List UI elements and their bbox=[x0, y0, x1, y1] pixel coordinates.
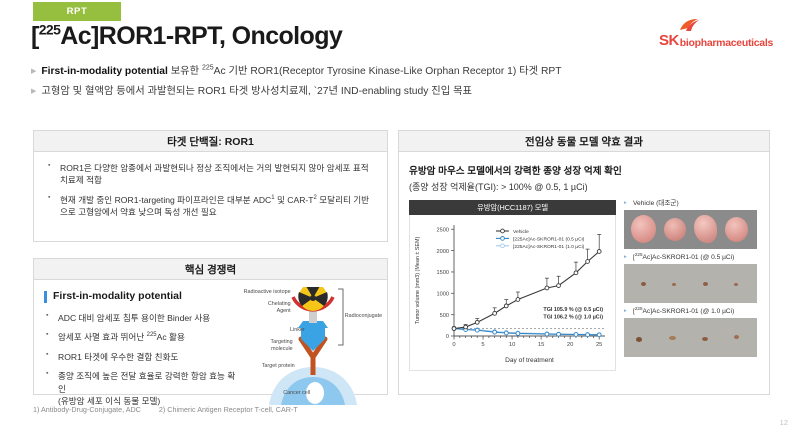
svg-text:15: 15 bbox=[538, 342, 544, 348]
header-bullet-1-bold: First-in-modality potential bbox=[41, 66, 167, 77]
label-radioconjugate: Radioconjugate bbox=[345, 313, 385, 320]
label-agent: Agent bbox=[277, 308, 291, 314]
core-bullet-1-text: ADC 대비 암세포 침투 용이한 Binder 사용 bbox=[58, 313, 210, 323]
list-item: 현재 개발 중인 ROR1-targeting 파이프라인은 대부분 ADC1 … bbox=[46, 194, 375, 219]
logo-name-text: biopharmaceuticals bbox=[680, 38, 773, 49]
svg-text:2000: 2000 bbox=[437, 249, 449, 255]
label-linker: Linker bbox=[261, 327, 305, 334]
svg-text:10: 10 bbox=[509, 342, 515, 348]
footnotes: 1) Antibody-Drug-Conjugate, ADC2) Chimer… bbox=[33, 405, 316, 414]
tumor-photo-vehicle bbox=[624, 210, 757, 249]
core-bullet-2-a: 암세포 사멸 효과 뛰어난 bbox=[58, 332, 147, 342]
core-competency-card: 핵심 경쟁력 First-in-modality potential ADC 대… bbox=[33, 258, 388, 395]
sk-biopharmaceuticals-logo: SK biopharmaceuticals bbox=[659, 26, 773, 48]
photo-label-dose-10: [225Ac]Ac-SKROR1-01 (@ 1.0 µCi) bbox=[624, 308, 759, 316]
svg-text:[225Ac]Ac-SKROR1-01 (0.5 µCi): [225Ac]Ac-SKROR1-01 (0.5 µCi) bbox=[513, 236, 585, 242]
target-protein-bullet-list: ROR1은 다양한 암종에서 과발현되나 정상 조직에서는 거의 발현되지 않아… bbox=[46, 162, 375, 219]
header-bullet-1-mid: 보유한 bbox=[168, 66, 202, 77]
photo-label-vehicle: Vehicle (대조군) bbox=[624, 200, 759, 208]
tumor-photo-column: Vehicle (대조군) [225Ac]Ac-SKROR1-01 (@ 0.5… bbox=[624, 200, 759, 371]
core-bullet-4-a: 종양 조직에 높은 전달 효율로 강력한 항암 효능 확인 bbox=[58, 371, 235, 393]
chart-plot-area: 050010001500200025000510152025Day of tre… bbox=[409, 215, 616, 371]
list-item: 암세포 사멸 효과 뛰어난 225Ac 활용 bbox=[44, 331, 241, 343]
svg-text:Day of treatment: Day of treatment bbox=[505, 357, 554, 364]
photo-label-vehicle-text: Vehicle (대조군) bbox=[633, 200, 679, 207]
target-protein-card-body: ROR1은 다양한 암종에서 과발현되나 정상 조직에서는 거의 발현되지 않아… bbox=[34, 152, 387, 236]
first-in-modality-heading: First-in-modality potential bbox=[44, 290, 241, 302]
target-protein-card: 타겟 단백질: ROR1 ROR1은 다양한 암종에서 과발현되나 정상 조직에… bbox=[33, 130, 388, 242]
isotope-superscript: 225 bbox=[147, 333, 157, 339]
photo-label-05-superscript: 225 bbox=[635, 252, 643, 257]
svg-text:20: 20 bbox=[567, 342, 573, 348]
svg-text:Tumor volume (mm3) (Mean ± SEM: Tumor volume (mm3) (Mean ± SEM) bbox=[415, 237, 421, 325]
slide: RPT [225Ac]ROR1-RPT, Oncology ▶First-in-… bbox=[0, 0, 800, 445]
label-cancer-cell: Cancer cell bbox=[279, 390, 315, 397]
label-targeting: Targeting bbox=[271, 339, 293, 345]
page-number: 12 bbox=[780, 418, 788, 427]
core-bullet-3-text: ROR1 타겟에 우수한 결합 친화도 bbox=[58, 352, 178, 362]
photo-label-dose-05: [225Ac]Ac-SKROR1-01 (@ 0.5 µCi) bbox=[624, 254, 759, 262]
core-competency-layout: First-in-modality potential ADC 대비 암세포 침… bbox=[44, 287, 377, 415]
list-item: ADC 대비 암세포 침투 용이한 Binder 사용 bbox=[44, 312, 241, 324]
header-bullet-1-superscript: 225 bbox=[202, 65, 214, 72]
svg-text:1000: 1000 bbox=[437, 292, 449, 298]
target-bullet-2-b: 및 CAR-T bbox=[275, 195, 314, 205]
efficacy-subheading: (종양 성장 억제율(TGI): > 100% @ 0.5, 1 µCi) bbox=[409, 180, 759, 193]
core-competency-text-column: First-in-modality potential ADC 대비 암세포 침… bbox=[44, 287, 241, 415]
label-chelating: Chelating bbox=[268, 301, 291, 307]
svg-text:2500: 2500 bbox=[437, 227, 449, 233]
bullet-triangle-icon: ▶ bbox=[31, 88, 36, 95]
header-bullet-1-rest: Ac 기반 ROR1(Receptor Tyrosine Kinase-Like… bbox=[214, 66, 562, 77]
preclinical-efficacy-card-title: 전임상 동물 모델 약효 결과 bbox=[399, 131, 769, 152]
svg-text:25: 25 bbox=[596, 342, 602, 348]
tumor-growth-chart: 유방암(HCC1187) 모델 050010001500200025000510… bbox=[409, 200, 616, 371]
label-target-protein: Target protein bbox=[247, 363, 295, 370]
core-competency-card-title: 핵심 경쟁력 bbox=[34, 259, 387, 280]
label-molecule: molecule bbox=[271, 346, 293, 352]
title-suffix: Ac]ROR1-RPT, Oncology bbox=[60, 22, 342, 50]
target-protein-card-title: 타겟 단백질: ROR1 bbox=[34, 131, 387, 152]
svg-text:[225Ac]Ac-SKROR1-01 (1.0 µCi): [225Ac]Ac-SKROR1-01 (1.0 µCi) bbox=[513, 244, 585, 250]
svg-text:Vehicle: Vehicle bbox=[513, 229, 529, 235]
logo-sk-text: SK bbox=[659, 33, 679, 48]
svg-text:TGI 106.2 % (@ 1.0 µCi): TGI 106.2 % (@ 1.0 µCi) bbox=[543, 315, 603, 321]
header-bullet-2: ▶고형암 및 혈액암 등에서 과발현되는 ROR1 타겟 방사성치료제, `27… bbox=[31, 82, 472, 97]
target-bullet-2-a: 현재 개발 중인 ROR1-targeting 파이프라인은 대부분 ADC bbox=[60, 195, 271, 205]
svg-text:500: 500 bbox=[440, 313, 449, 319]
bullet-triangle-icon: ▶ bbox=[31, 68, 36, 75]
chart-title: 유방암(HCC1187) 모델 bbox=[409, 200, 616, 215]
footnote-2: 2) Chimeric Antigen Receptor T-cell, CAR… bbox=[159, 405, 298, 414]
tumor-photo-dose-05 bbox=[624, 264, 757, 303]
radioconjugate-diagram: Radioactive isotope ChelatingAgent Linke… bbox=[243, 287, 377, 405]
preclinical-efficacy-card: 전임상 동물 모델 약효 결과 유방암 마우스 모델에서의 강력한 종양 성장 … bbox=[398, 130, 770, 395]
label-radioactive-isotope: Radioactive isotope bbox=[229, 289, 291, 296]
photo-label-10-suffix: Ac]Ac-SKROR1-01 (@ 1.0 µCi) bbox=[643, 308, 735, 315]
core-bullet-2-b: Ac 활용 bbox=[157, 332, 185, 342]
svg-text:0: 0 bbox=[452, 342, 455, 348]
title-isotope-superscript: 225 bbox=[39, 22, 61, 38]
svg-text:TGI 105.9 % (@ 0.5 µCi): TGI 105.9 % (@ 0.5 µCi) bbox=[543, 307, 603, 313]
core-competency-card-body: First-in-modality potential ADC 대비 암세포 침… bbox=[34, 280, 387, 422]
sk-wing-icon bbox=[678, 19, 700, 32]
list-item: ROR1 타겟에 우수한 결합 친화도 bbox=[44, 351, 241, 363]
label-targeting-molecule: Targetingmolecule bbox=[249, 339, 293, 353]
efficacy-content-row: 유방암(HCC1187) 모델 050010001500200025000510… bbox=[409, 200, 759, 371]
preclinical-efficacy-card-body: 유방암 마우스 모델에서의 강력한 종양 성장 억제 확인 (종양 성장 억제율… bbox=[399, 152, 769, 380]
svg-text:1500: 1500 bbox=[437, 270, 449, 276]
photo-label-10-superscript: 225 bbox=[635, 306, 643, 311]
svg-text:0: 0 bbox=[446, 334, 449, 340]
target-bullet-1-text: ROR1은 다양한 암종에서 과발현되나 정상 조직에서는 거의 발현되지 않아… bbox=[60, 163, 369, 185]
tumor-photo-dose-10 bbox=[624, 318, 757, 357]
list-item: ROR1은 다양한 암종에서 과발현되나 정상 조직에서는 거의 발현되지 않아… bbox=[46, 162, 375, 187]
svg-text:5: 5 bbox=[481, 342, 484, 348]
footnote-1: 1) Antibody-Drug-Conjugate, ADC bbox=[33, 405, 141, 414]
efficacy-heading: 유방암 마우스 모델에서의 강력한 종양 성장 억제 확인 bbox=[409, 163, 759, 177]
label-chelating-agent: ChelatingAgent bbox=[245, 301, 291, 315]
chart-svg: 050010001500200025000510152025Day of tre… bbox=[410, 215, 615, 368]
title-prefix: [ bbox=[31, 22, 39, 50]
category-badge: RPT bbox=[33, 2, 121, 21]
list-item: 종양 조직에 높은 전달 효율로 강력한 항암 효능 확인(유방암 세포 이식 … bbox=[44, 370, 241, 407]
core-competency-bullet-list: ADC 대비 암세포 침투 용이한 Binder 사용 암세포 사멸 효과 뛰어… bbox=[44, 312, 241, 408]
header-bullet-2-text: 고형암 및 혈액암 등에서 과발현되는 ROR1 타겟 방사성치료제, `27년… bbox=[41, 86, 472, 97]
page-title: [225Ac]ROR1-RPT, Oncology bbox=[31, 22, 342, 51]
header-bullet-1: ▶First-in-modality potential 보유한 225Ac 기… bbox=[31, 62, 562, 77]
photo-label-05-suffix: Ac]Ac-SKROR1-01 (@ 0.5 µCi) bbox=[643, 254, 735, 261]
